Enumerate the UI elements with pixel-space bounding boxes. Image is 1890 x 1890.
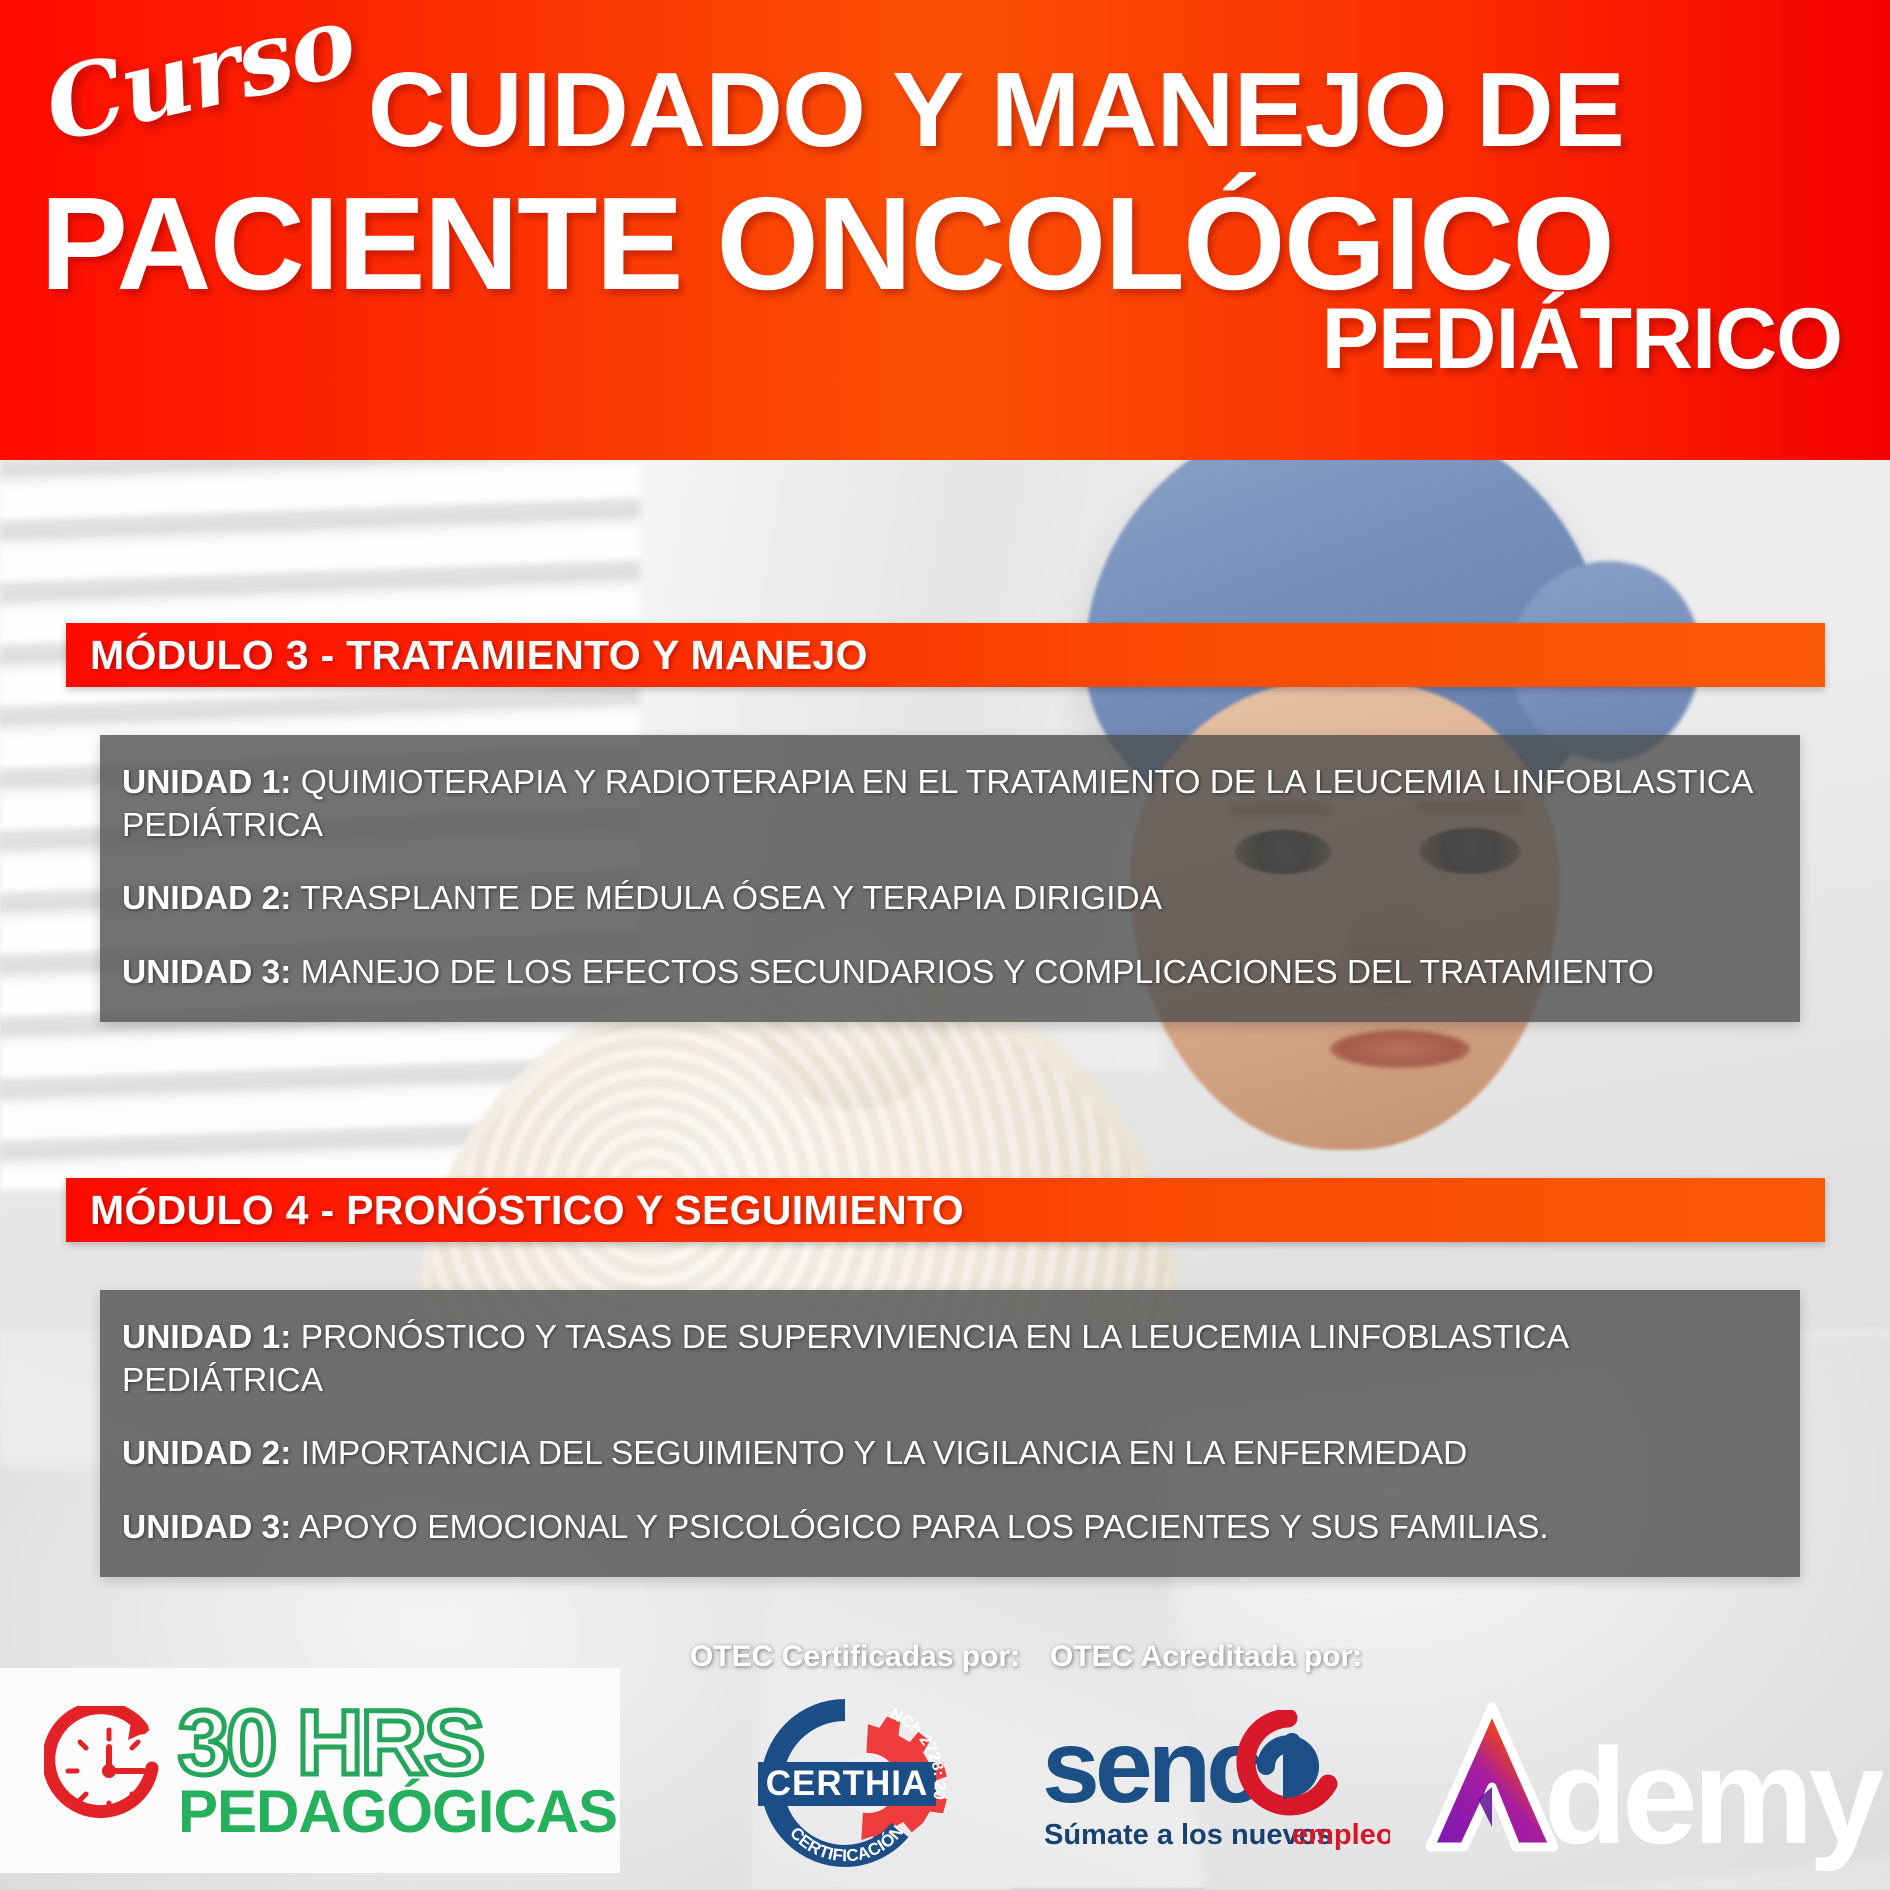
module-3-bar: MÓDULO 3 - TRATAMIENTO Y MANEJO xyxy=(66,623,1825,687)
certified-by-label: OTEC Certificadas por: xyxy=(690,1640,1020,1674)
module-3-unit-1: UNIDAD 1: QUIMIOTERAPIA Y RADIOTERAPIA E… xyxy=(122,761,1774,847)
sence-tagline-dark: Súmate a los nuevos xyxy=(1044,1819,1333,1851)
accredited-by-label: OTEC Acreditada por: xyxy=(1050,1640,1362,1674)
credentials-row: OTEC Certificadas por: OTEC Acreditada p… xyxy=(690,1640,1890,1890)
unit-label: UNIDAD 2: xyxy=(122,1435,291,1472)
unit-label: UNIDAD 3: xyxy=(122,954,291,991)
mouth xyxy=(1330,1030,1470,1068)
hours-subtitle: PEDAGÓGICAS xyxy=(178,1786,617,1839)
unit-label: UNIDAD 3: xyxy=(122,1509,291,1546)
module-4-unit-1: UNIDAD 1: PRONÓSTICO Y TASAS DE SUPERVIV… xyxy=(122,1316,1774,1402)
module-4-unit-3: UNIDAD 3: APOYO EMOCIONAL Y PSICOLÓGICO … xyxy=(122,1506,1774,1549)
sence-name-blue: senc xyxy=(1042,1710,1261,1825)
ademy-logo: demy xyxy=(1420,1695,1890,1875)
unit-text: TRASPLANTE DE MÉDULA ÓSEA Y TERAPIA DIRI… xyxy=(300,880,1162,917)
module-3-units-panel: UNIDAD 1: QUIMIOTERAPIA Y RADIOTERAPIA E… xyxy=(100,735,1800,1022)
unit-text: APOYO EMOCIONAL Y PSICOLÓGICO PARA LOS P… xyxy=(299,1509,1549,1546)
unit-text: PRONÓSTICO Y TASAS DE SUPERVIVIENCIA EN … xyxy=(122,1319,1567,1399)
module-3-title: MÓDULO 3 - TRATAMIENTO Y MANEJO xyxy=(90,632,868,679)
hours-number: 30 HRS xyxy=(178,1703,617,1784)
unit-text: MANEJO DE LOS EFECTOS SECUNDARIOS Y COMP… xyxy=(301,954,1654,991)
hours-badge: 30 HRS PEDAGÓGICAS xyxy=(0,1668,620,1873)
certhia-logo: CERTHIA CERTIFICACIÓN NCh 2728: 2015 xyxy=(740,1688,950,1888)
sence-tagline-red: empleos xyxy=(1292,1819,1390,1851)
title-line-3: PEDIÁTRICO xyxy=(1322,290,1842,389)
module-3-unit-3: UNIDAD 3: MANEJO DE LOS EFECTOS SECUNDAR… xyxy=(122,951,1774,994)
unit-text: QUIMIOTERAPIA Y RADIOTERAPIA EN EL TRATA… xyxy=(122,764,1752,844)
clock-icon xyxy=(44,1706,174,1836)
header-banner: Curso CUIDADO Y MANEJO DE PACIENTE ONCOL… xyxy=(0,0,1890,460)
ademy-name: demy xyxy=(1544,1720,1884,1872)
unit-label: UNIDAD 1: xyxy=(122,764,291,801)
sence-logo: senc Súmate a los nuevos empleos xyxy=(1040,1710,1390,1870)
unit-label: UNIDAD 1: xyxy=(122,1319,291,1356)
module-4-bar: MÓDULO 4 - PRONÓSTICO Y SEGUIMIENTO xyxy=(66,1178,1825,1242)
module-4-units-panel: UNIDAD 1: PRONÓSTICO Y TASAS DE SUPERVIV… xyxy=(100,1290,1800,1577)
title-line-1: CUIDADO Y MANEJO DE xyxy=(368,50,1624,171)
module-4-unit-2: UNIDAD 2: IMPORTANCIA DEL SEGUIMIENTO Y … xyxy=(122,1432,1774,1475)
certhia-name: CERTHIA xyxy=(766,1764,929,1803)
course-poster: Curso CUIDADO Y MANEJO DE PACIENTE ONCOL… xyxy=(0,0,1890,1890)
module-4-title: MÓDULO 4 - PRONÓSTICO Y SEGUIMIENTO xyxy=(90,1187,964,1234)
kicker-curso: Curso xyxy=(35,0,353,165)
module-3-unit-2: UNIDAD 2: TRASPLANTE DE MÉDULA ÓSEA Y TE… xyxy=(122,877,1774,920)
unit-label: UNIDAD 2: xyxy=(122,880,291,917)
unit-text: IMPORTANCIA DEL SEGUIMIENTO Y LA VIGILAN… xyxy=(301,1435,1468,1472)
certhia-subtitle: CERTIFICACIÓN xyxy=(786,1822,907,1866)
